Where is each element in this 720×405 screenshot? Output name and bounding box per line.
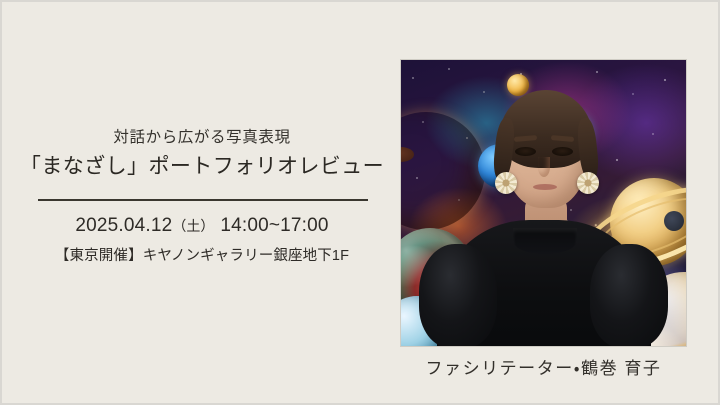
event-subtitle: 対話から広がる写真表現 (18, 128, 386, 147)
flower-earring-left-icon (495, 172, 517, 194)
puff-sleeve-left (419, 244, 497, 346)
event-banner: 対話から広がる写真表現 「まなざし」ポートフォリオレビュー 2025.04.12… (0, 0, 720, 405)
eye-right (552, 147, 573, 156)
event-time: 14:00~17:00 (220, 215, 328, 236)
puff-sleeve-right (590, 244, 668, 346)
event-date-line: 2025.04.12（土）14:00~17:00 (18, 212, 386, 241)
title-divider (38, 199, 368, 201)
mouth (533, 184, 557, 190)
collar (513, 228, 577, 254)
page-title: 「まなざし」ポートフォリオレビュー (18, 153, 386, 181)
event-day-of-week: （土） (172, 218, 214, 234)
event-date: 2025.04.12 (75, 215, 172, 236)
flower-earring-right-icon (577, 172, 599, 194)
facilitator-photo (401, 60, 686, 346)
portrait-subject (401, 60, 686, 346)
title-block: 対話から広がる写真表現 「まなざし」ポートフォリオレビュー (18, 128, 386, 182)
photo-caption: ファシリテーター・鶴巻 育子 (401, 354, 686, 379)
event-venue: 【東京開催】キヤノンギャラリー銀座地下1F (18, 245, 386, 268)
nose (538, 157, 550, 177)
event-details: 2025.04.12（土）14:00~17:00 【東京開催】キヤノンギャラリー… (18, 212, 386, 268)
eye-left (515, 147, 536, 156)
